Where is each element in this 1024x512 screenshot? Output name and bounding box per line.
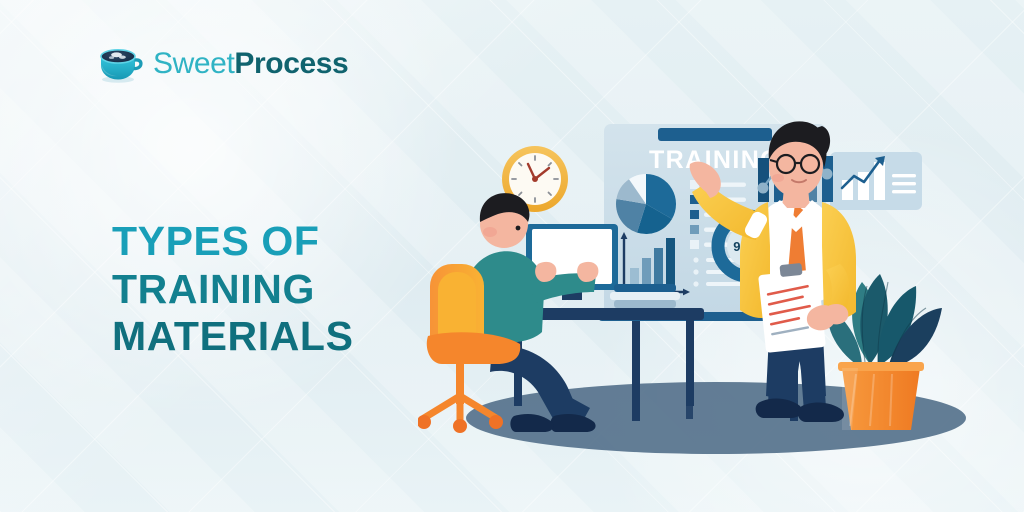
brand-logo[interactable]: SweetProcess (98, 44, 348, 84)
banner-root: SweetProcess TYPES OF TRAINING MATERIALS (0, 0, 1024, 512)
coffee-cup-icon (98, 44, 144, 84)
growth-chart-card (830, 152, 922, 210)
page-title: TYPES OF TRAINING MATERIALS (112, 218, 354, 361)
books (610, 284, 680, 308)
brand-name-sweet: Sweet (153, 49, 234, 79)
pie-chart (616, 174, 676, 234)
brand-name-process: Process (234, 49, 348, 79)
brand-wordmark: SweetProcess (153, 49, 348, 79)
page-title-line-1: TYPES OF (112, 218, 354, 266)
page-title-line-3: MATERIALS (112, 313, 354, 361)
training-presentation-illustration: TRAINING (418, 96, 998, 496)
page-title-line-2: TRAINING (112, 266, 354, 314)
